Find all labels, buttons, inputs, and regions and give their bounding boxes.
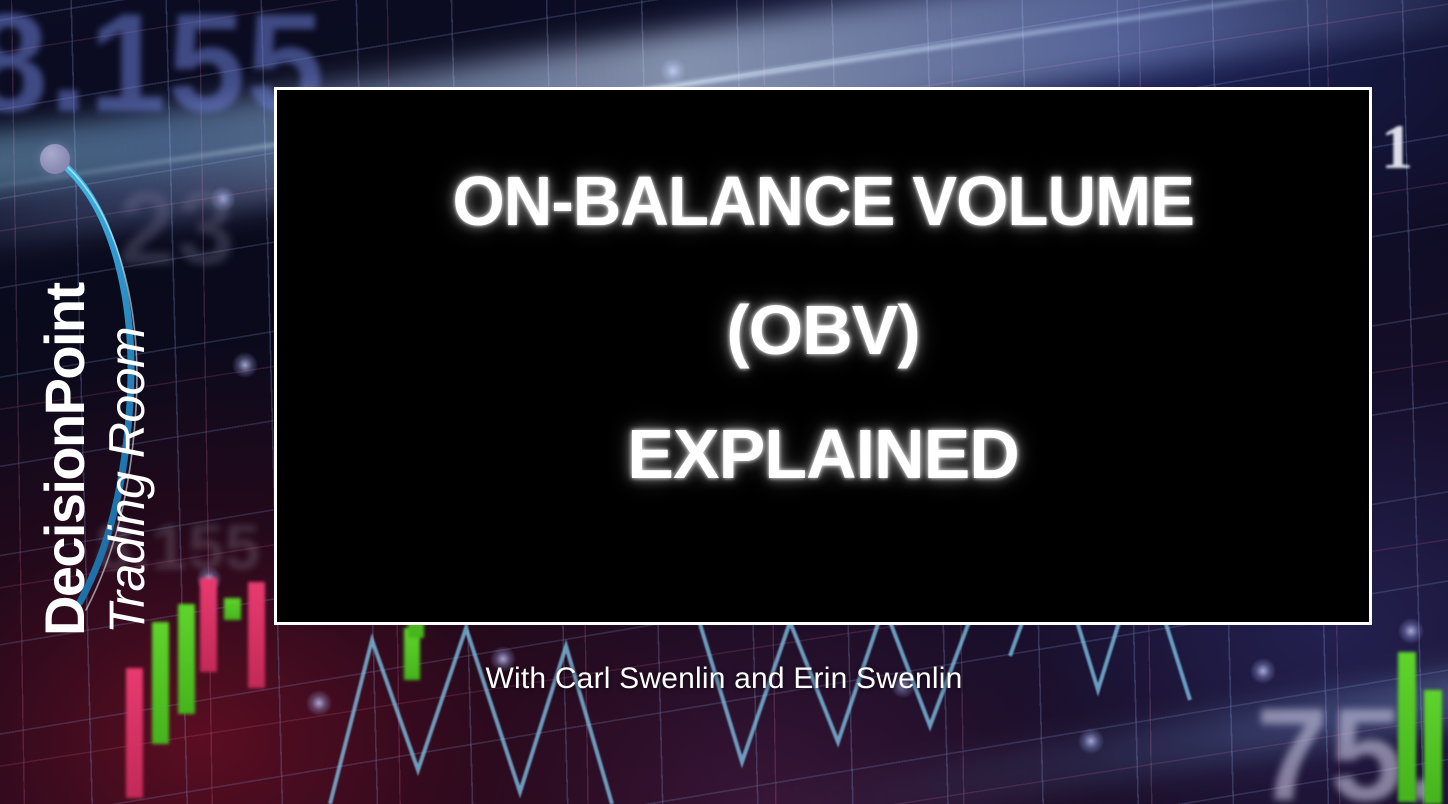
logo-tagline: Trading Room <box>98 327 156 634</box>
candlestick-up <box>224 598 241 620</box>
title-line-1: ON-BALANCE VOLUME <box>452 166 1194 237</box>
candlestick-down <box>200 578 217 672</box>
decisionpoint-logo: DecisionPoint Trading Room <box>18 120 188 660</box>
slide-canvas: 8.155 23 8.155 1 75. <box>0 0 1448 804</box>
logo-text: DecisionPoint Trading Room <box>18 120 188 660</box>
candlestick-up <box>1424 690 1442 804</box>
title-line-2: (OBV) <box>726 295 919 366</box>
title-line-3: EXPLAINED <box>627 419 1019 490</box>
logo-brand-name: DecisionPoint <box>32 283 97 636</box>
title-card: ON-BALANCE VOLUME (OBV) EXPLAINED <box>274 87 1372 625</box>
presenters-subtitle: With Carl Swenlin and Erin Swenlin <box>0 662 1448 696</box>
